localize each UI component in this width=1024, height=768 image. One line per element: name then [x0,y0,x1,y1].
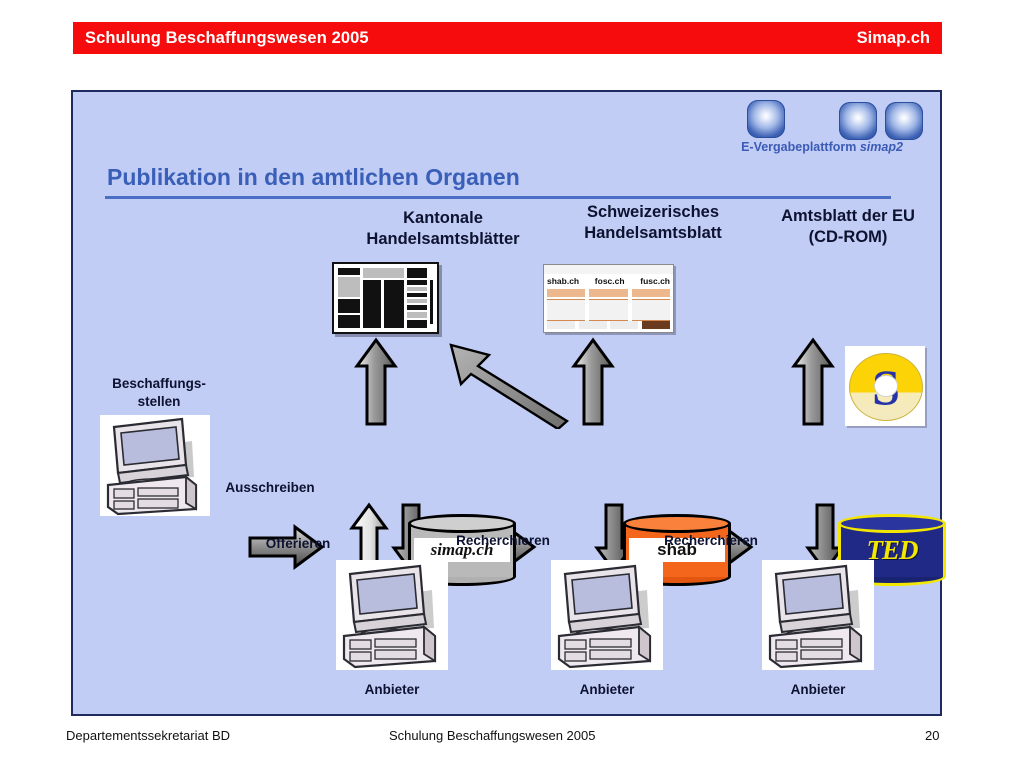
title-bar-right-text: Simap.ch [857,29,930,48]
column-header-amtsblatt-eu: Amtsblatt der EU (CD-ROM) [728,206,968,247]
cdrom-image: S [845,346,925,426]
slide-frame: E-Vergabeplattform simap2 Publikation in… [71,90,942,716]
logo-ball-icon [747,100,785,138]
cylinder-top [623,514,731,533]
title-bar: Schulung Beschaffungswesen 2005 Simap.ch [73,22,942,54]
arrow-up-shab-to-schweizerisches [571,337,615,427]
shab-title-1: shab.ch [547,277,579,286]
title-bar-left-text: Schulung Beschaffungswesen 2005 [85,29,369,48]
newspaper-kantonale-image [332,262,439,334]
label-beschaffungsstellen-line2: stellen [99,393,219,411]
simap2-logo: E-Vergabeplattform simap2 [714,100,930,162]
label-anbieter-3: Anbieter [748,682,888,697]
cylinder-top [838,514,946,533]
label-beschaffungsstellen: Beschaffungs- stellen [99,375,219,410]
arrow-diagonal-shab-to-kantonale [445,339,575,429]
logo-caption-main: E-Vergabeplattform [741,140,860,154]
label-anbieter-1: Anbieter [322,682,462,697]
heading-divider [105,196,891,199]
label-anbieter-2: Anbieter [537,682,677,697]
footer-left: Departementssekretariat BD [66,728,230,743]
logo-ball-icon [839,102,877,140]
logo-caption-italic: simap2 [860,140,903,154]
footer-center: Schulung Beschaffungswesen 2005 [389,728,595,743]
label-recherchieren-2: Recherchieren [651,532,771,550]
footer: Departementssekretariat BD Schulung Besc… [0,728,1024,756]
label-recherchieren-1: Recherchieren [443,532,563,550]
computer-beschaffungsstellen-image [100,415,210,516]
shab-thumb-footer [547,321,670,329]
cd-disc-icon: S [849,353,923,421]
shab-title-3: fusc.ch [640,277,670,286]
cylinder-top [408,514,516,533]
arrow-up-ted-to-amtsblatt [791,337,835,427]
footer-page-number: 20 [925,728,939,743]
computer-anbieter-1-image [336,560,448,670]
cd-hole [874,375,898,397]
shab-thumb-header [544,265,673,274]
arrow-up-simap-to-kantonale [354,337,398,427]
label-beschaffungsstellen-line1: Beschaffungs- [99,375,219,393]
logo-balls [714,100,930,138]
database-label-ted: TED [844,538,940,562]
column-header-line1: Amtsblatt der EU [728,206,968,227]
label-ausschreiben: Ausschreiben [215,479,325,497]
computer-anbieter-2-image [551,560,663,670]
shab-thumb-columns [547,299,670,319]
column-header-line2: (CD-ROM) [728,227,968,248]
computer-anbieter-3-image [762,560,874,670]
shab-thumb-titles: shab.ch fosc.ch fusc.ch [547,275,670,288]
shab-title-2: fosc.ch [595,277,625,286]
logo-ball-icon [885,102,923,140]
shab-website-image: shab.ch fosc.ch fusc.ch [543,264,674,333]
page-title: Publikation in den amtlichen Organen [107,164,747,191]
label-offerieren: Offerieren [253,535,343,553]
logo-caption: E-Vergabeplattform simap2 [714,140,930,154]
shab-thumb-subtitles [547,289,670,297]
